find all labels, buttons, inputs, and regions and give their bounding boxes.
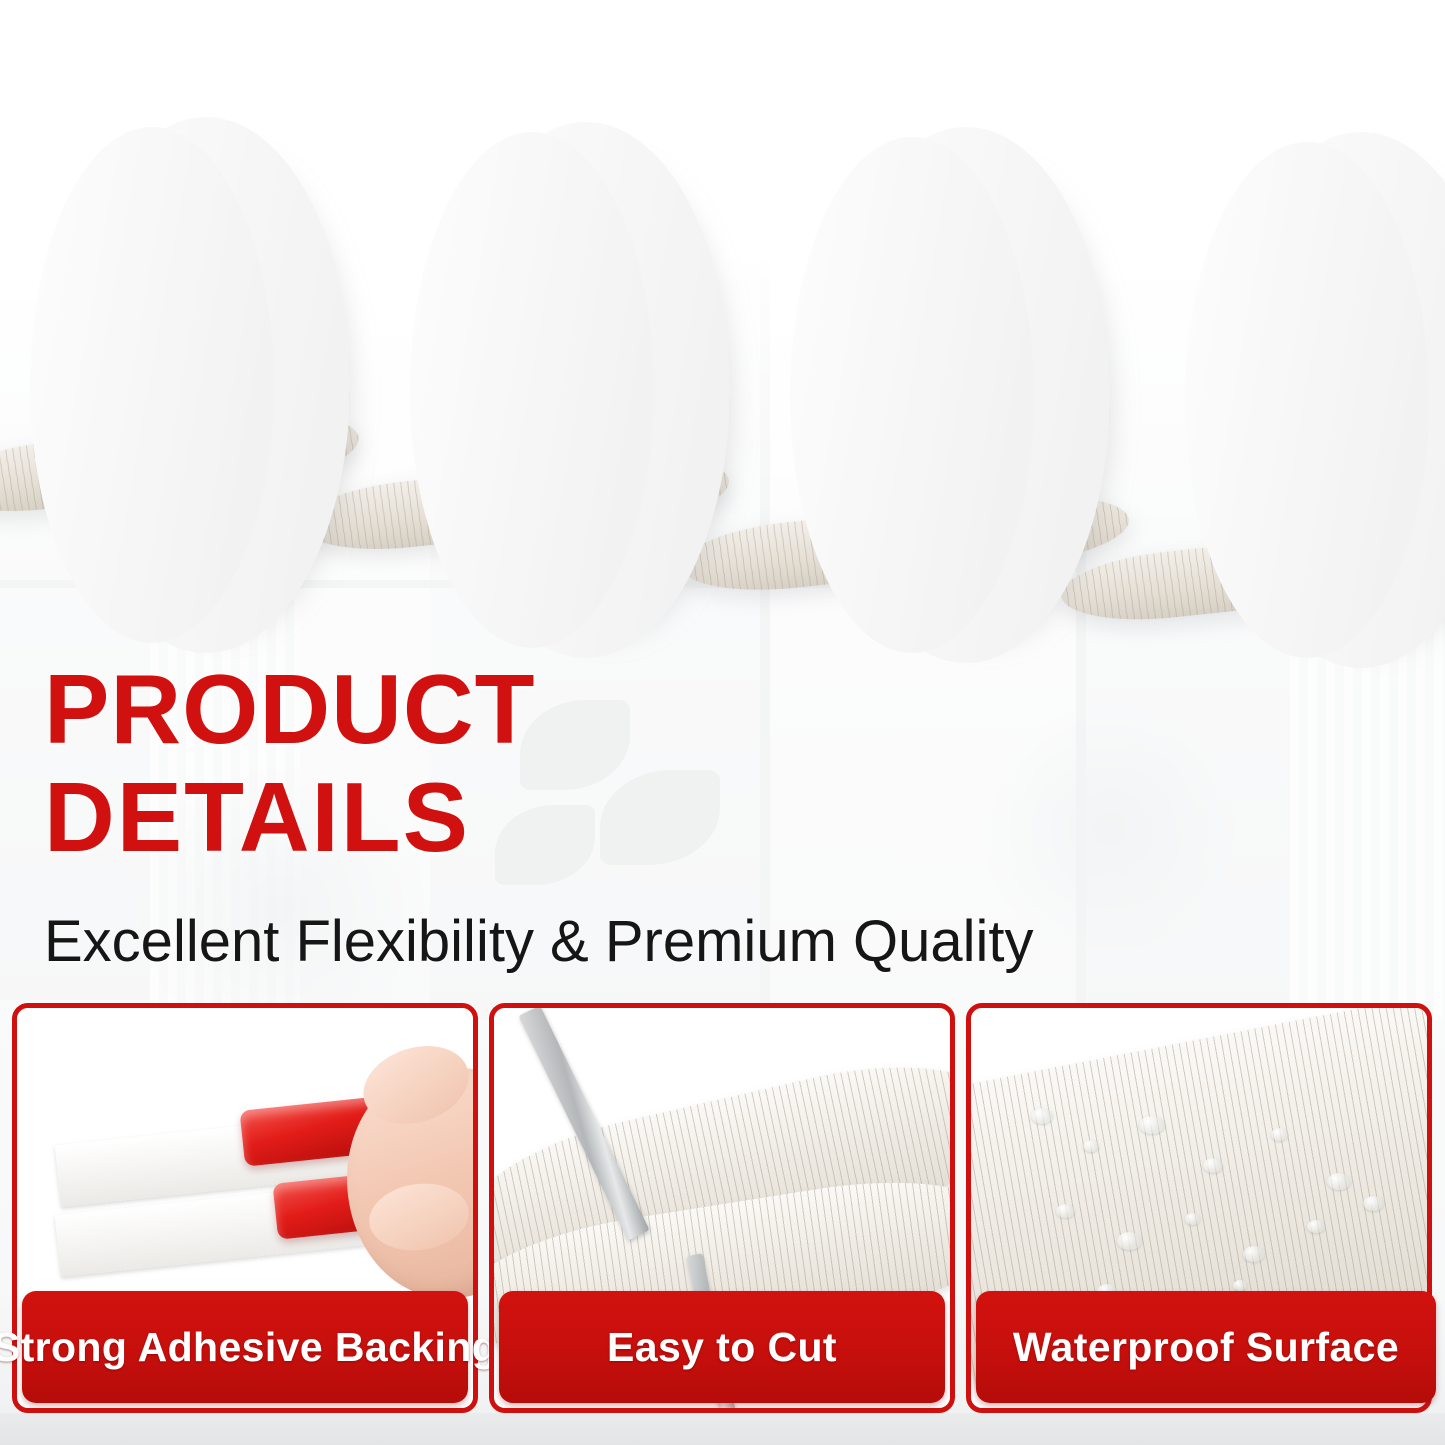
feature-panel-waterproof[interactable]: Waterproof Surface (966, 1003, 1432, 1413)
water-droplet (1363, 1196, 1384, 1211)
water-droplet (1327, 1173, 1351, 1190)
feature-label: Easy to Cut (607, 1324, 837, 1371)
tape-coil-1 (30, 95, 460, 715)
feature-banner: Easy to Cut (499, 1291, 945, 1403)
water-droplet (1139, 1116, 1165, 1134)
feature-label: Strong Adhesive Backing (0, 1324, 497, 1371)
headline-line-2: DETAILS (44, 768, 1184, 868)
water-droplet (1185, 1213, 1200, 1225)
feature-banner: Strong Adhesive Backing (22, 1291, 468, 1403)
tape-edge-line (784, 131, 1040, 659)
water-droplet (1083, 1140, 1099, 1152)
water-droplet (1031, 1108, 1053, 1124)
tape-coil-2 (410, 100, 840, 720)
product-details-infographic: PRODUCT DETAILS Excellent Flexibility & … (0, 0, 1445, 1445)
water-droplet (1271, 1128, 1288, 1141)
feature-banner: Waterproof Surface (976, 1291, 1436, 1403)
water-droplet (1117, 1232, 1142, 1250)
water-droplet (1203, 1158, 1223, 1173)
tape-coil-3 (790, 105, 1220, 725)
water-droplet (1233, 1280, 1247, 1291)
tape-edge-line (1179, 136, 1435, 664)
footer-strip (0, 1413, 1445, 1445)
edge-banding-coil-group (0, 0, 1445, 720)
feature-panel-cut[interactable]: Easy to Cut (489, 1003, 955, 1413)
headline-line-1: PRODUCT (44, 660, 1184, 760)
headline-block: PRODUCT DETAILS (44, 660, 1184, 868)
tape-edge-line (404, 126, 660, 654)
feature-label: Waterproof Surface (1013, 1324, 1399, 1371)
water-droplet (1243, 1246, 1265, 1262)
tape-edge-line (24, 121, 280, 649)
headline-subtitle: Excellent Flexibility & Premium Quality (44, 908, 1364, 975)
feature-panel-group: Strong Adhesive Backing Easy to Cut (0, 1003, 1445, 1418)
feature-panel-adhesive[interactable]: Strong Adhesive Backing (12, 1003, 478, 1413)
water-droplet (1056, 1204, 1075, 1218)
tape-coil-4 (1185, 110, 1445, 730)
water-droplet (1307, 1220, 1325, 1233)
